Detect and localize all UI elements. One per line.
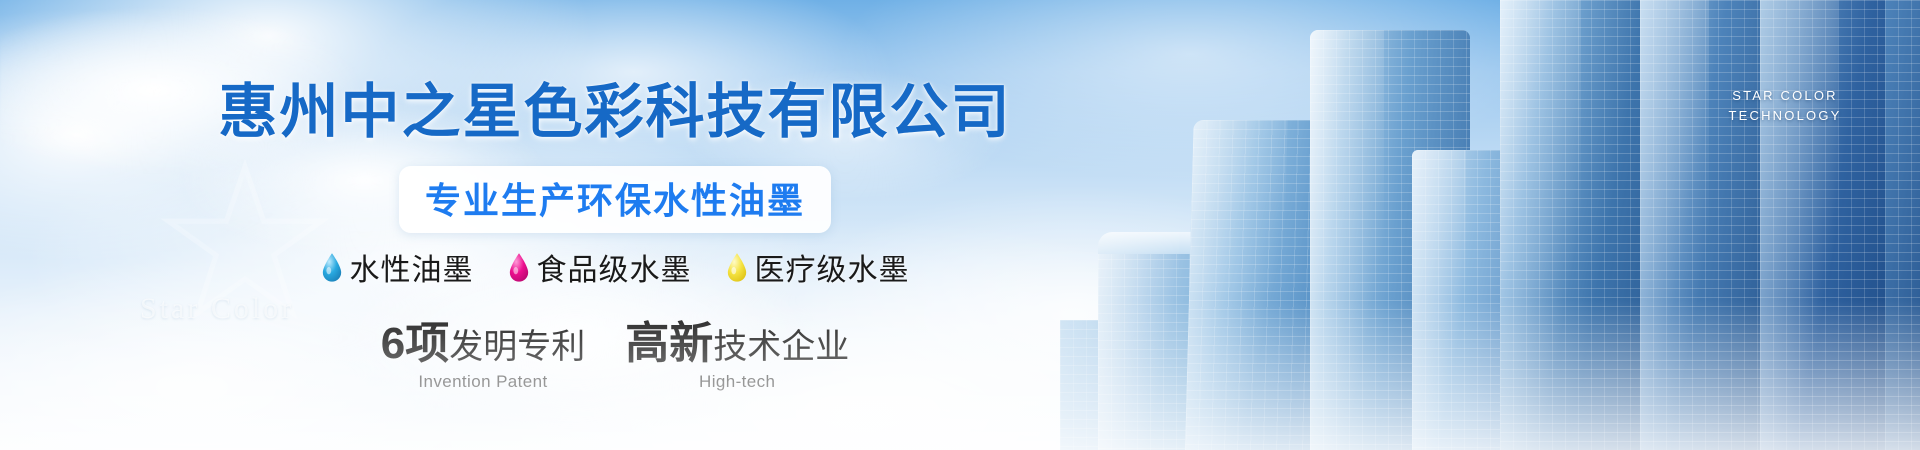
- feature-label: 食品级水墨: [537, 245, 692, 289]
- badge-list: 6项发明专利 Invention Patent 高新技术企业 High-tech: [0, 320, 1230, 392]
- badge-highlight: 6项: [381, 319, 449, 368]
- tower-8: [1885, 0, 1920, 450]
- badge-item: 6项发明专利 Invention Patent: [381, 320, 585, 392]
- feature-item: 医疗级水墨: [726, 245, 910, 289]
- feature-label: 水性油墨: [350, 245, 474, 289]
- feature-list: 水性油墨: [0, 245, 1230, 289]
- badge-cn-text: 高新技术企业: [625, 320, 849, 368]
- badge-highlight: 高新: [625, 319, 713, 368]
- badge-rest: 技术企业: [713, 328, 849, 366]
- water-drop-icon: [321, 252, 343, 282]
- badge-en-text: Invention Patent: [381, 372, 585, 392]
- water-drop-icon: [726, 252, 748, 282]
- subtitle-container: 专业生产环保水性油墨: [0, 166, 1230, 233]
- subtitle-pill: 专业生产环保水性油墨: [399, 166, 831, 233]
- feature-item: 水性油墨: [321, 245, 474, 289]
- badge-item: 高新技术企业 High-tech: [625, 320, 849, 392]
- badge-en-text: High-tech: [625, 372, 849, 392]
- feature-label: 医疗级水墨: [755, 245, 910, 289]
- feature-item: 食品级水墨: [508, 245, 692, 289]
- badge-cn-text: 6项发明专利: [381, 320, 585, 368]
- promo-banner: Star Color STAR COLOR TECHNO: [0, 0, 1920, 450]
- water-drop-icon: [508, 252, 530, 282]
- company-title: 惠州中之星色彩科技有限公司: [0, 64, 1230, 149]
- badge-rest: 发明专利: [449, 328, 585, 366]
- banner-content: 惠州中之星色彩科技有限公司 专业生产环保水性油墨: [0, 0, 1230, 450]
